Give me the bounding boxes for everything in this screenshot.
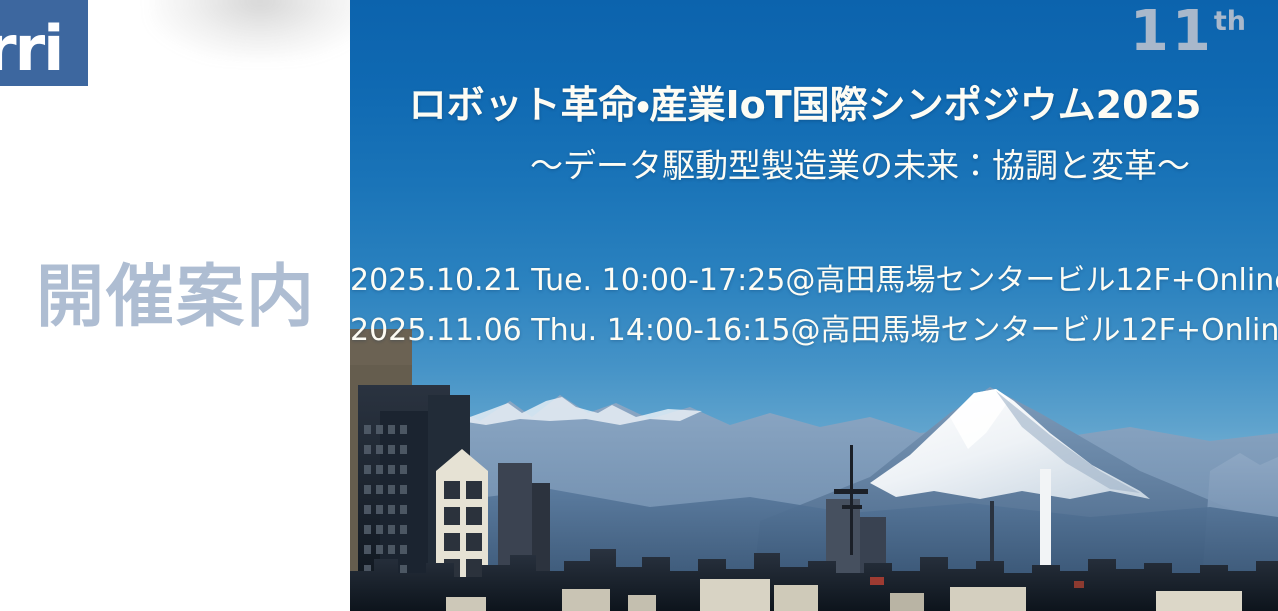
edition-badge: 11th <box>1130 4 1246 60</box>
session-line: 2025.11.06 Thu. 14:00-16:15@高田馬場センタービル12… <box>350 306 1268 356</box>
panel-top-shade <box>150 0 350 60</box>
banner-panel: 11th ロボット革命・産業IoT国際シンポジウム2025 〜データ駆動型製造業… <box>350 0 1278 611</box>
session-list: 2025.10.21 Tue. 10:00-17:25@高田馬場センタービル12… <box>350 256 1278 356</box>
rri-logo[interactable]: rri <box>0 0 88 86</box>
symposium-announcement-slide: rri 開催案内 <box>0 0 1278 611</box>
symposium-subtitle: 〜データ駆動型製造業の未来：協調と変革〜 <box>350 147 1278 186</box>
left-panel: rri 開催案内 <box>0 0 350 611</box>
symposium-title: ロボット革命・産業IoT国際シンポジウム2025 <box>350 84 1278 127</box>
mount-fuji-and-skyline-photo <box>350 321 1278 611</box>
edition-number: 11 <box>1130 0 1214 64</box>
session-line: 2025.10.21 Tue. 10:00-17:25@高田馬場センタービル12… <box>350 256 1268 306</box>
page-title: 開催案内 <box>8 262 344 333</box>
rri-logo-text: rri <box>0 18 62 80</box>
edition-ordinal: th <box>1214 6 1246 37</box>
